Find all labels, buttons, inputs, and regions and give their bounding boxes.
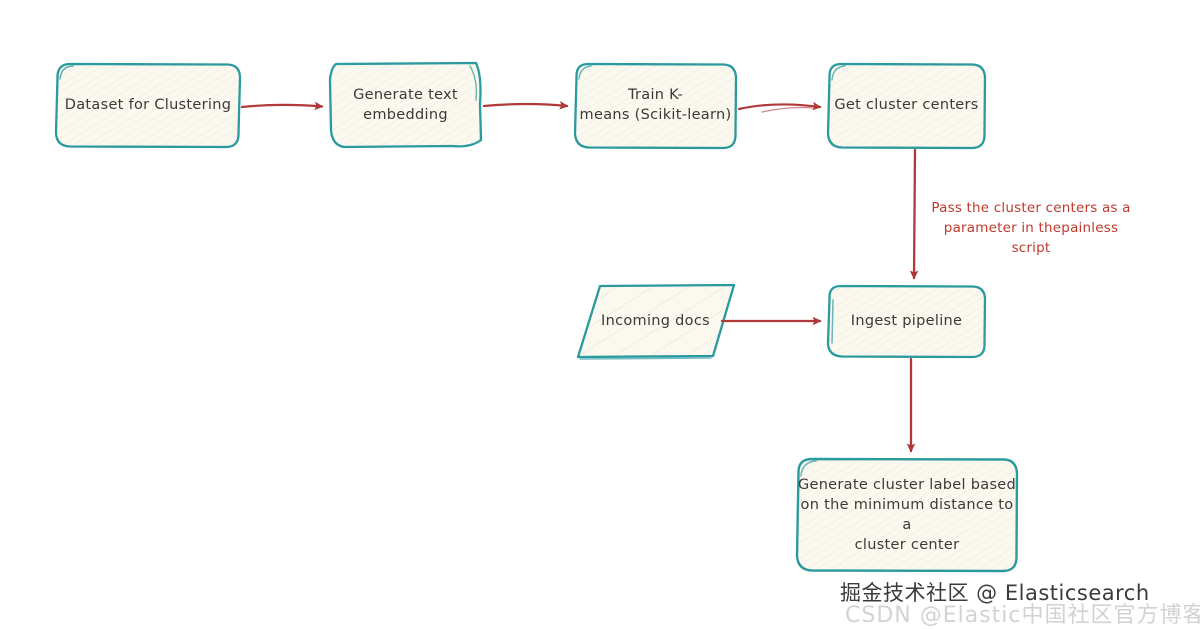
node-incoming[interactable]	[578, 285, 734, 359]
node-centers-texture	[828, 64, 985, 148]
node-incoming-sketch	[580, 358, 711, 359]
flowchart-canvas	[0, 0, 1200, 628]
watermark-juejin: 掘金技术社区 @ Elasticsearch	[840, 577, 1150, 607]
node-pipeline-sketch	[832, 300, 833, 343]
node-pipeline-texture	[828, 286, 985, 357]
edge-annotation-cluster-centers: Pass the cluster centers as a parameter …	[916, 198, 1146, 258]
node-dataset[interactable]	[56, 64, 240, 147]
edge-kmeans-to-centers	[739, 104, 820, 112]
node-dataset-texture	[56, 64, 240, 147]
node-label-gen[interactable]	[797, 459, 1017, 571]
node-kmeans-texture	[575, 64, 736, 148]
node-incoming-texture	[578, 285, 734, 357]
edge-centers-to-pipeline	[914, 150, 915, 278]
node-pipeline[interactable]	[828, 286, 985, 357]
node-embedding[interactable]	[330, 63, 481, 147]
edge-dataset-to-embedding	[242, 105, 322, 107]
node-centers[interactable]	[828, 64, 985, 148]
edge-embedding-to-kmeans	[484, 104, 567, 106]
node-embedding-texture	[330, 63, 481, 147]
node-label-gen-texture	[797, 459, 1017, 571]
node-kmeans[interactable]	[575, 64, 736, 148]
